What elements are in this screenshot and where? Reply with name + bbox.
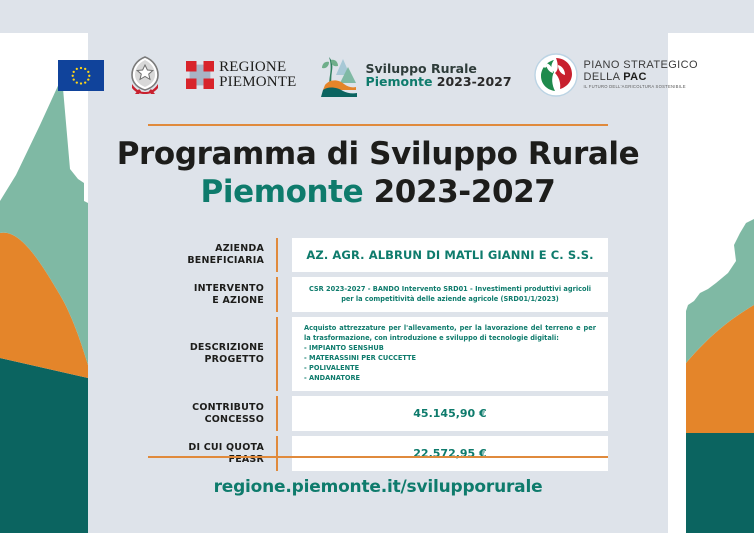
label-line1: DESCRIZIONE [190, 342, 264, 354]
descrizione-item: - MATERASSINI PER CUCCETTE [304, 354, 596, 364]
sviluppo-rurale-highlight: Piemonte [366, 74, 433, 89]
regione-piemonte-logo: REGIONE PIEMONTE [186, 60, 296, 90]
logo-row: REGIONE PIEMONTE [88, 44, 668, 106]
sviluppo-rurale-wordmark: Sviluppo Rurale Piemonte 2023-2027 [366, 62, 512, 89]
row-value-descrizione-progetto: Acquisto attrezzature per l'allevamento,… [292, 317, 608, 391]
page-title: Programma di Sviluppo Rurale Piemonte 20… [88, 136, 668, 210]
row-label-descrizione-progetto: DESCRIZIONE PROGETTO [146, 317, 278, 391]
regione-piemonte-wordmark: REGIONE PIEMONTE [219, 60, 296, 90]
label-line1: INTERVENTO [194, 283, 264, 295]
poster-content: REGIONE PIEMONTE [88, 0, 668, 533]
european-union-flag-icon [58, 60, 104, 91]
row-value-di-cui-quota-feasr: 22.572,95 € [292, 436, 608, 471]
sviluppo-rurale-years: 2023-2027 [432, 74, 511, 89]
pac-acronym: PAC [623, 71, 647, 83]
table-row: AZIENDA BENEFICIARIA AZ. AGR. ALBRUN DI … [146, 238, 608, 272]
left-mountain-decoration [0, 33, 88, 533]
label-line1: AZIENDA [215, 243, 264, 255]
row-value-azienda-beneficiaria: AZ. AGR. ALBRUN DI MATLI GIANNI E C. S.S… [292, 238, 608, 272]
table-row: CONTRIBUTO CONCESSO 45.145,90 € [146, 396, 608, 431]
title-line2: Piemonte 2023-2027 [88, 174, 668, 210]
divider-top [148, 124, 608, 126]
piano-strategico-pac-logo: PIANO STRATEGICO DELLA PAC IL FUTURO DEL… [534, 53, 698, 97]
regione-piemonte-cross-icon [186, 61, 214, 89]
pac-emblem-icon [534, 53, 578, 97]
label-line1: CONTRIBUTO [192, 402, 264, 414]
sviluppo-rurale-logo: Sviluppo Rurale Piemonte 2023-2027 [319, 53, 512, 97]
title-line1: Programma di Sviluppo Rurale [88, 136, 668, 172]
descrizione-item: - IMPIANTO SENSHUB [304, 344, 596, 354]
row-label-contributo-concesso: CONTRIBUTO CONCESSO [146, 396, 278, 431]
footer-website-url[interactable]: regione.piemonte.it/svilupporurale [88, 477, 668, 497]
divider-bottom [148, 456, 608, 458]
pac-tagline: IL FUTURO DELL'AGRICOLTURA SOSTENIBILE [584, 85, 698, 89]
row-label-azienda-beneficiaria: AZIENDA BENEFICIARIA [146, 238, 278, 272]
row-value-intervento-e-azione: CSR 2023-2027 - BANDO Intervento SRD01 -… [292, 277, 608, 312]
project-details-table: AZIENDA BENEFICIARIA AZ. AGR. ALBRUN DI … [146, 238, 608, 476]
descrizione-item: - POLIVALENTE [304, 364, 596, 374]
sviluppo-rurale-landscape-icon [319, 53, 359, 97]
repubblica-italiana-emblem-icon [126, 54, 164, 96]
psr-piemonte-poster: REGIONE PIEMONTE [0, 0, 754, 533]
row-value-contributo-concesso: 45.145,90 € [292, 396, 608, 431]
pac-line2: DELLA PAC [584, 72, 698, 84]
regione-piemonte-line1: REGIONE [219, 60, 296, 75]
table-row: DI CUI QUOTA FEASR 22.572,95 € [146, 436, 608, 471]
sviluppo-rurale-line2: Piemonte 2023-2027 [366, 75, 512, 89]
label-line2: CONCESSO [205, 414, 264, 426]
label-line2: PROGETTO [205, 354, 265, 366]
row-label-intervento-e-azione: INTERVENTO E AZIONE [146, 277, 278, 312]
title-years: 2023-2027 [363, 174, 555, 210]
label-line2: BENEFICIARIA [187, 255, 264, 267]
descrizione-item: - ANDANATORE [304, 374, 596, 384]
pac-wordmark: PIANO STRATEGICO DELLA PAC IL FUTURO DEL… [584, 60, 698, 90]
table-row: INTERVENTO E AZIONE CSR 2023-2027 - BAND… [146, 277, 608, 312]
descrizione-paragraph: Acquisto attrezzature per l'allevamento,… [304, 324, 596, 344]
label-line2: E AZIONE [212, 295, 264, 307]
table-row: DESCRIZIONE PROGETTO Acquisto attrezzatu… [146, 317, 608, 391]
right-mountain-decoration [668, 33, 754, 533]
regione-piemonte-line2: PIEMONTE [219, 75, 296, 90]
label-line1: DI CUI QUOTA [188, 442, 264, 454]
pac-line2-prefix: DELLA [584, 71, 624, 83]
title-highlight: Piemonte [201, 174, 364, 210]
row-label-di-cui-quota-feasr: DI CUI QUOTA FEASR [146, 436, 278, 471]
sviluppo-rurale-line1: Sviluppo Rurale [366, 62, 512, 76]
